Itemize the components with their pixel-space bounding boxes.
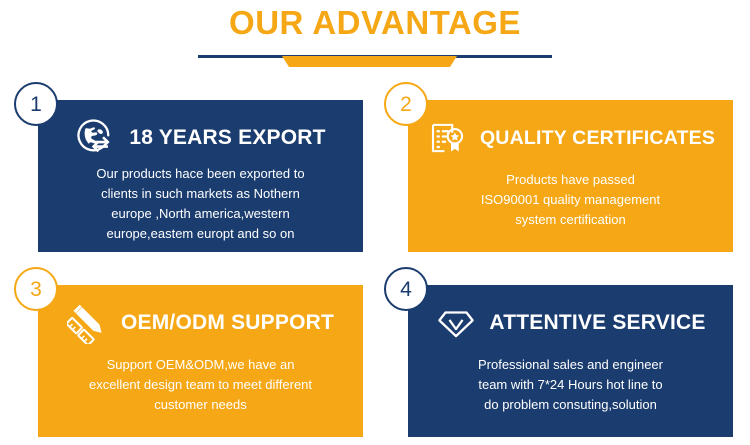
card-body-line: europe,eastem europt and so on (60, 224, 341, 244)
advantage-card-4[interactable]: 4 ATTENTIVE SERVICE Professional sales a… (408, 285, 733, 437)
card-title-2: QUALITY CERTIFICATES (480, 127, 715, 150)
card-body-line: excellent design team to meet different (60, 375, 341, 395)
card-body-line: team with 7*24 Hours hot line to (430, 375, 711, 395)
card-title-4: ATTENTIVE SERVICE (489, 311, 705, 335)
page-title: OUR ADVANTAGE (0, 3, 750, 43)
card-title-1: 18 YEARS EXPORT (129, 126, 325, 150)
card-body-line: Professional sales and engineer (430, 355, 711, 375)
card-body-line: Support OEM&ODM,we have an (60, 355, 341, 375)
card-head-3: OEM/ODM SUPPORT (38, 299, 363, 347)
divider-trapezoid (282, 56, 457, 67)
card-title-3: OEM/ODM SUPPORT (121, 311, 334, 335)
pencil-ruler-icon (67, 302, 109, 344)
card-number-3: 3 (30, 279, 42, 300)
advantage-card-3[interactable]: 3 (38, 285, 363, 437)
card-body-line: customer needs (60, 395, 341, 415)
card-body-line: ISO90001 quality management (430, 190, 711, 210)
card-body-line: europe ,North america,western (60, 204, 341, 224)
card-body-line: Products have passed (430, 170, 711, 190)
advantage-card-1[interactable]: 1 18 YEARS EXPORT Our products hace been… (38, 100, 363, 252)
card-body-4: Professional sales and engineer team wit… (430, 355, 711, 415)
advantage-card-2[interactable]: 2 (408, 100, 733, 252)
card-body-line: clients in such markets as Nothern (60, 184, 341, 204)
card-body-line: do problem consuting,solution (430, 395, 711, 415)
certificate-icon (426, 117, 468, 159)
card-body-3: Support OEM&ODM,we have an excellent des… (60, 355, 341, 415)
globe-exchange-icon (75, 117, 117, 159)
card-body-line: Our products hace been exported to (60, 164, 341, 184)
card-number-1: 1 (30, 94, 42, 115)
title-divider (198, 55, 552, 75)
card-head-4: ATTENTIVE SERVICE (408, 299, 733, 347)
card-body-2: Products have passed ISO90001 quality ma… (430, 170, 711, 230)
card-number-2: 2 (400, 94, 412, 115)
card-body-1: Our products hace been exported to clien… (60, 164, 341, 244)
diamond-check-icon (435, 302, 477, 344)
card-head-2: QUALITY CERTIFICATES (408, 114, 733, 162)
card-number-4: 4 (400, 279, 412, 300)
card-body-line: system certification (430, 210, 711, 230)
card-head-1: 18 YEARS EXPORT (38, 114, 363, 162)
header: OUR ADVANTAGE (0, 0, 750, 80)
advantage-card-grid: 1 18 YEARS EXPORT Our products hace been… (0, 80, 750, 445)
